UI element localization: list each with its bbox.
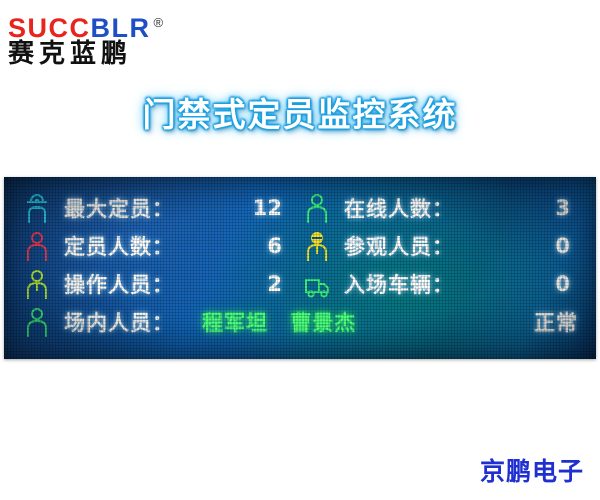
logo-chinese-wordmark: 赛克蓝鹏 [8,39,268,69]
led-rows: 最大定员： 12 在线人数： 3 [4,177,596,359]
led-display-panel: 最大定员： 12 在线人数： 3 [4,177,596,359]
led-value: 12 [253,196,288,220]
person-visitor-icon [304,231,330,261]
led-value: 3 [555,196,576,220]
led-field-assigned-count: 定员人数： 6 [4,227,288,265]
logo-latin-blue: BLR [91,13,151,43]
person-icon [24,231,50,261]
led-label: 场内人员： [64,307,174,337]
led-label: 参观人员： [344,231,454,261]
led-field-max-capacity: 最大定员： 12 [4,189,288,227]
person-operator-icon [24,269,50,299]
led-label: 最大定员： [64,193,174,223]
onsite-name: 曹景杰 [290,311,356,335]
led-label: 入场车辆： [344,269,454,299]
led-label: 在线人数： [344,193,454,223]
person-icon [304,193,330,223]
led-row: 操作人员： 2 入场车辆： 0 [4,265,596,303]
truck-icon [304,269,330,299]
logo-latin-wordmark: SUCCBLR® [8,8,268,38]
led-row: 定员人数： 6 参观人员： 0 [4,227,596,265]
led-field-operator-count: 操作人员： 2 [4,265,288,303]
led-label: 操作人员： [64,269,174,299]
led-value: 6 [267,234,288,258]
onsite-name: 程军坦 [202,311,268,335]
led-value: 0 [555,234,576,258]
led-field-onsite-personnel: 场内人员： 程军坦 曹景杰 正常 [4,303,596,341]
led-field-vehicle-count: 入场车辆： 0 [288,265,576,303]
logo-latin-red: SUCC [8,13,91,43]
led-row: 最大定员： 12 在线人数： 3 [4,189,596,227]
led-label: 定员人数： [64,231,174,261]
onsite-name-list: 程军坦 曹景杰 [202,307,356,337]
footer-brand: 京鹏电子 [480,452,584,488]
registered-trademark-icon: ® [154,15,165,30]
person-icon [24,307,50,337]
status-badge: 正常 [534,307,578,337]
page-title: 门禁式定员监控系统 [0,88,600,136]
led-row: 场内人员： 程军坦 曹景杰 正常 [4,303,596,341]
led-value: 2 [267,272,288,296]
brand-logo: SUCCBLR® 赛克蓝鹏 [8,8,268,70]
led-field-visitor-count: 参观人员： 0 [288,227,576,265]
led-field-online-count: 在线人数： 3 [288,189,576,227]
person-helmet-icon [24,193,50,223]
led-value: 0 [555,272,576,296]
